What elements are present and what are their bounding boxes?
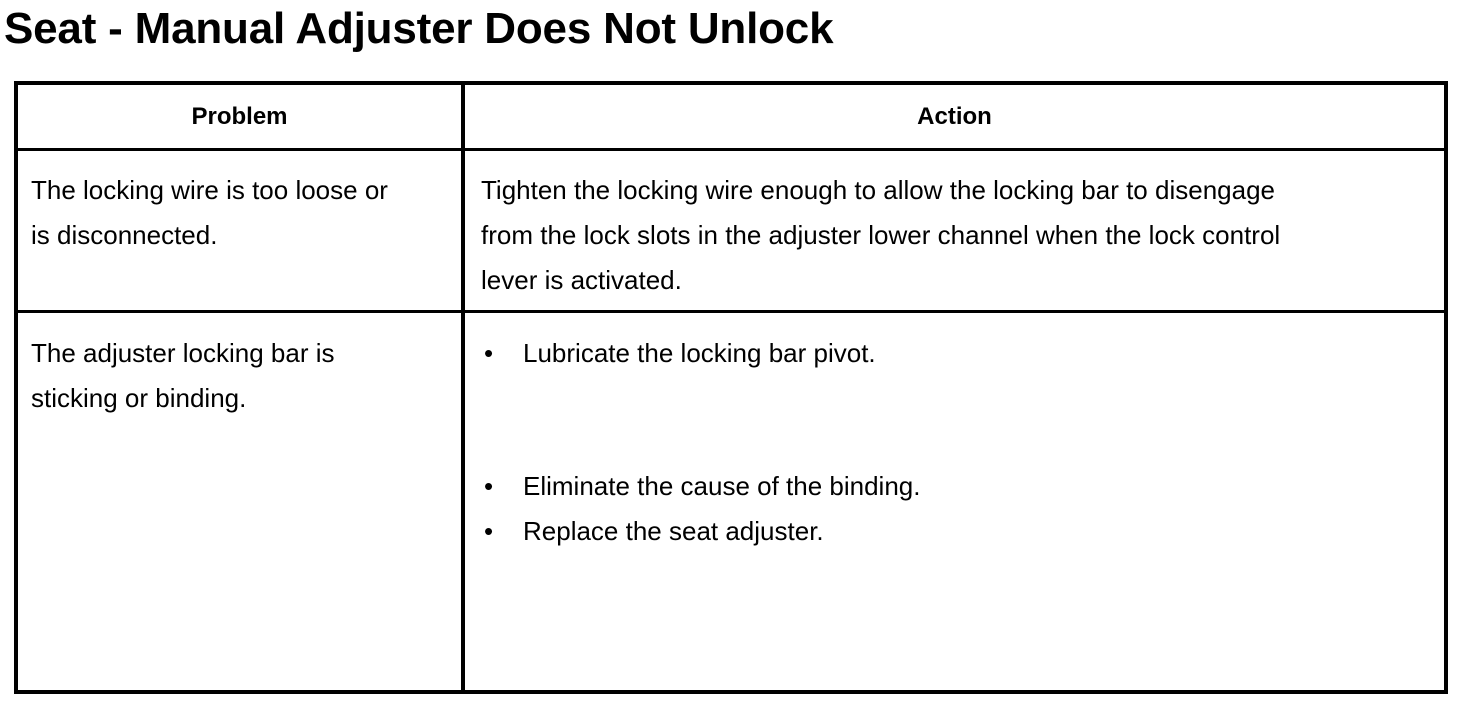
list-item: • Eliminate the cause of the binding. (481, 464, 1431, 509)
text-line: sticking or binding. (31, 376, 451, 421)
list-item: • Replace the seat adjuster. (481, 509, 1431, 554)
table-row-separator (14, 310, 1448, 313)
table-border-right (1444, 81, 1448, 694)
document-page: Seat - Manual Adjuster Does Not Unlock P… (0, 0, 1472, 712)
action-bullet-list-row-2: • Lubricate the locking bar pivot. • Eli… (481, 331, 1431, 554)
table-cell-action-row-1: Tighten the locking wire enough to allow… (481, 168, 1431, 303)
table-header-cell-action: Action (465, 85, 1444, 148)
action-text-row-1: Tighten the locking wire enough to allow… (481, 168, 1431, 303)
list-item-label: Eliminate the cause of the binding. (523, 471, 920, 501)
table-row: The locking wire is too loose or is disc… (31, 168, 451, 258)
table-border-bottom (14, 690, 1448, 694)
problem-text-row-1: The locking wire is too loose or is disc… (31, 168, 451, 258)
text-line: The adjuster locking bar is (31, 331, 451, 376)
problem-text-row-2: The adjuster locking bar is sticking or … (31, 331, 451, 421)
table-header-cell-problem: Problem (18, 85, 461, 148)
text-line: lever is activated. (481, 258, 1431, 303)
table-cell-action-row-2: • Lubricate the locking bar pivot. • Eli… (481, 331, 1431, 554)
list-item-label: Lubricate the locking bar pivot. (523, 338, 876, 368)
bullet-icon: • (484, 509, 493, 554)
table-row: The adjuster locking bar is sticking or … (31, 331, 451, 421)
table-border-left (14, 81, 18, 694)
list-item-label: Replace the seat adjuster. (523, 516, 824, 546)
text-line: Tighten the locking wire enough to allow… (481, 168, 1431, 213)
bullet-icon: • (484, 464, 493, 509)
table-header-separator (14, 148, 1448, 151)
column-header-problem: Problem (191, 103, 287, 131)
bullet-icon: • (484, 331, 493, 376)
table-column-divider (461, 81, 465, 694)
text-line: from the lock slots in the adjuster lowe… (481, 213, 1431, 258)
list-item: • Lubricate the locking bar pivot. (481, 331, 1431, 376)
page-title: Seat - Manual Adjuster Does Not Unlock (4, 2, 833, 56)
column-header-action: Action (917, 103, 992, 131)
text-line: The locking wire is too loose or (31, 168, 451, 213)
text-line: is disconnected. (31, 213, 451, 258)
